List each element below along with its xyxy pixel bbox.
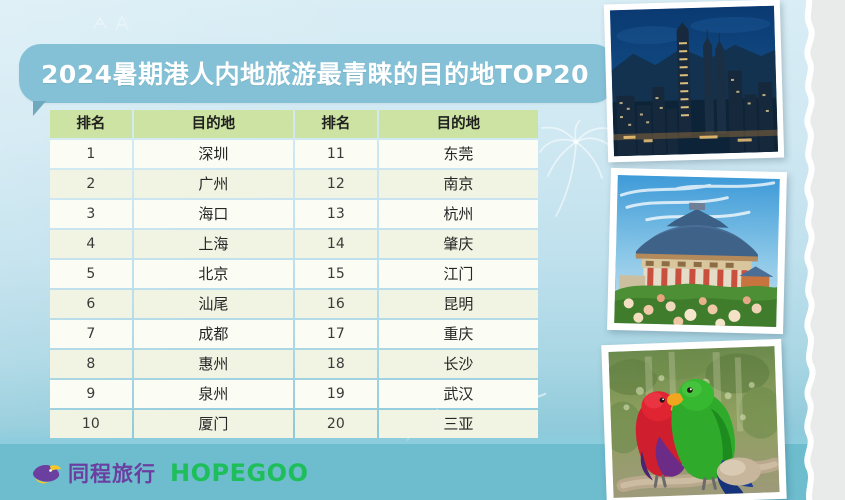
dest-cell-left: 上海 xyxy=(134,230,293,258)
rank-cell-right: 15 xyxy=(295,260,377,288)
rank-cell-left: 1 xyxy=(50,140,132,168)
title-banner: 2024暑期港人内地旅游最青睐的目的地TOP20 xyxy=(19,44,615,103)
page-title: 2024暑期港人内地旅游最青睐的目的地TOP20 xyxy=(41,60,589,89)
table-row: 5 北京 15 江门 xyxy=(50,260,538,288)
rank-cell-left: 2 xyxy=(50,170,132,198)
tongcheng-brand-text: 同程旅行 xyxy=(68,458,156,488)
table-row: 9 泉州 19 武汉 xyxy=(50,380,538,408)
dest-cell-right: 重庆 xyxy=(379,320,538,348)
dest-cell-left: 北京 xyxy=(134,260,293,288)
parrots-photo xyxy=(601,339,786,500)
table-body: 1 深圳 11 东莞 2 广州 12 南京 3 海口 13 杭州 4 上海 14 xyxy=(50,140,538,438)
table-row: 3 海口 13 杭州 xyxy=(50,200,538,228)
rank-cell-right: 17 xyxy=(295,320,377,348)
memorial-hall-photo xyxy=(607,168,787,334)
table-header: 排名 目的地 排名 目的地 xyxy=(50,110,538,138)
rank-cell-left: 10 xyxy=(50,410,132,438)
parrots-image xyxy=(609,346,780,498)
torn-paper-edge xyxy=(785,0,845,500)
rank-cell-right: 12 xyxy=(295,170,377,198)
dest-cell-left: 厦门 xyxy=(134,410,293,438)
rank-cell-left: 8 xyxy=(50,350,132,378)
column-header-dest-right: 目的地 xyxy=(379,110,538,138)
memorial-hall-image xyxy=(614,175,780,327)
speech-bubble-tail xyxy=(33,101,46,116)
tongcheng-logo[interactable]: 同程旅行 xyxy=(26,458,156,488)
dest-cell-right: 肇庆 xyxy=(379,230,538,258)
rank-cell-right: 11 xyxy=(295,140,377,168)
column-header-rank-left: 排名 xyxy=(50,110,132,138)
destination-ranking-table: 排名 目的地 排名 目的地 1 深圳 11 东莞 2 广州 12 南京 3 海口 xyxy=(48,108,540,440)
rank-cell-right: 18 xyxy=(295,350,377,378)
dest-cell-left: 广州 xyxy=(134,170,293,198)
table-row: 6 汕尾 16 昆明 xyxy=(50,290,538,318)
dest-cell-right: 长沙 xyxy=(379,350,538,378)
table-header-row: 排名 目的地 排名 目的地 xyxy=(50,110,538,138)
rank-cell-right: 19 xyxy=(295,380,377,408)
rank-cell-right: 20 xyxy=(295,410,377,438)
hopegoo-brand-text: HOPEGOO xyxy=(170,459,308,487)
table-row: 1 深圳 11 东莞 xyxy=(50,140,538,168)
rank-cell-left: 6 xyxy=(50,290,132,318)
dest-cell-left: 泉州 xyxy=(134,380,293,408)
rank-cell-right: 13 xyxy=(295,200,377,228)
rank-cell-left: 5 xyxy=(50,260,132,288)
dest-cell-left: 海口 xyxy=(134,200,293,228)
sparkle-decoration-icon xyxy=(86,10,146,38)
rank-cell-right: 16 xyxy=(295,290,377,318)
table-row: 4 上海 14 肇庆 xyxy=(50,230,538,258)
column-header-rank-right: 排名 xyxy=(295,110,377,138)
dest-cell-right: 武汉 xyxy=(379,380,538,408)
hopegoo-logo[interactable]: HOPEGOO xyxy=(170,459,308,487)
dest-cell-left: 深圳 xyxy=(134,140,293,168)
table-row: 2 广州 12 南京 xyxy=(50,170,538,198)
footer-logos: 同程旅行 HOPEGOO xyxy=(26,458,308,488)
city-night-skyline-image xyxy=(610,6,778,157)
dest-cell-right: 三亚 xyxy=(379,410,538,438)
dest-cell-left: 汕尾 xyxy=(134,290,293,318)
dest-cell-left: 惠州 xyxy=(134,350,293,378)
rank-cell-left: 3 xyxy=(50,200,132,228)
dest-cell-right: 杭州 xyxy=(379,200,538,228)
infographic-page: 同程旅行 HOPEGOO 2024暑期港人内地旅游最青睐的目的地TOP20 排名… xyxy=(0,0,845,500)
column-header-dest-left: 目的地 xyxy=(134,110,293,138)
rank-cell-left: 7 xyxy=(50,320,132,348)
city-night-skyline-photo xyxy=(604,0,784,162)
rank-cell-right: 14 xyxy=(295,230,377,258)
rank-cell-left: 9 xyxy=(50,380,132,408)
rank-cell-left: 4 xyxy=(50,230,132,258)
dest-cell-right: 南京 xyxy=(379,170,538,198)
table-row: 7 成都 17 重庆 xyxy=(50,320,538,348)
tongcheng-bird-icon xyxy=(26,460,62,486)
dest-cell-right: 东莞 xyxy=(379,140,538,168)
dest-cell-right: 江门 xyxy=(379,260,538,288)
dest-cell-left: 成都 xyxy=(134,320,293,348)
table-row: 10 厦门 20 三亚 xyxy=(50,410,538,438)
table-row: 8 惠州 18 长沙 xyxy=(50,350,538,378)
dest-cell-right: 昆明 xyxy=(379,290,538,318)
